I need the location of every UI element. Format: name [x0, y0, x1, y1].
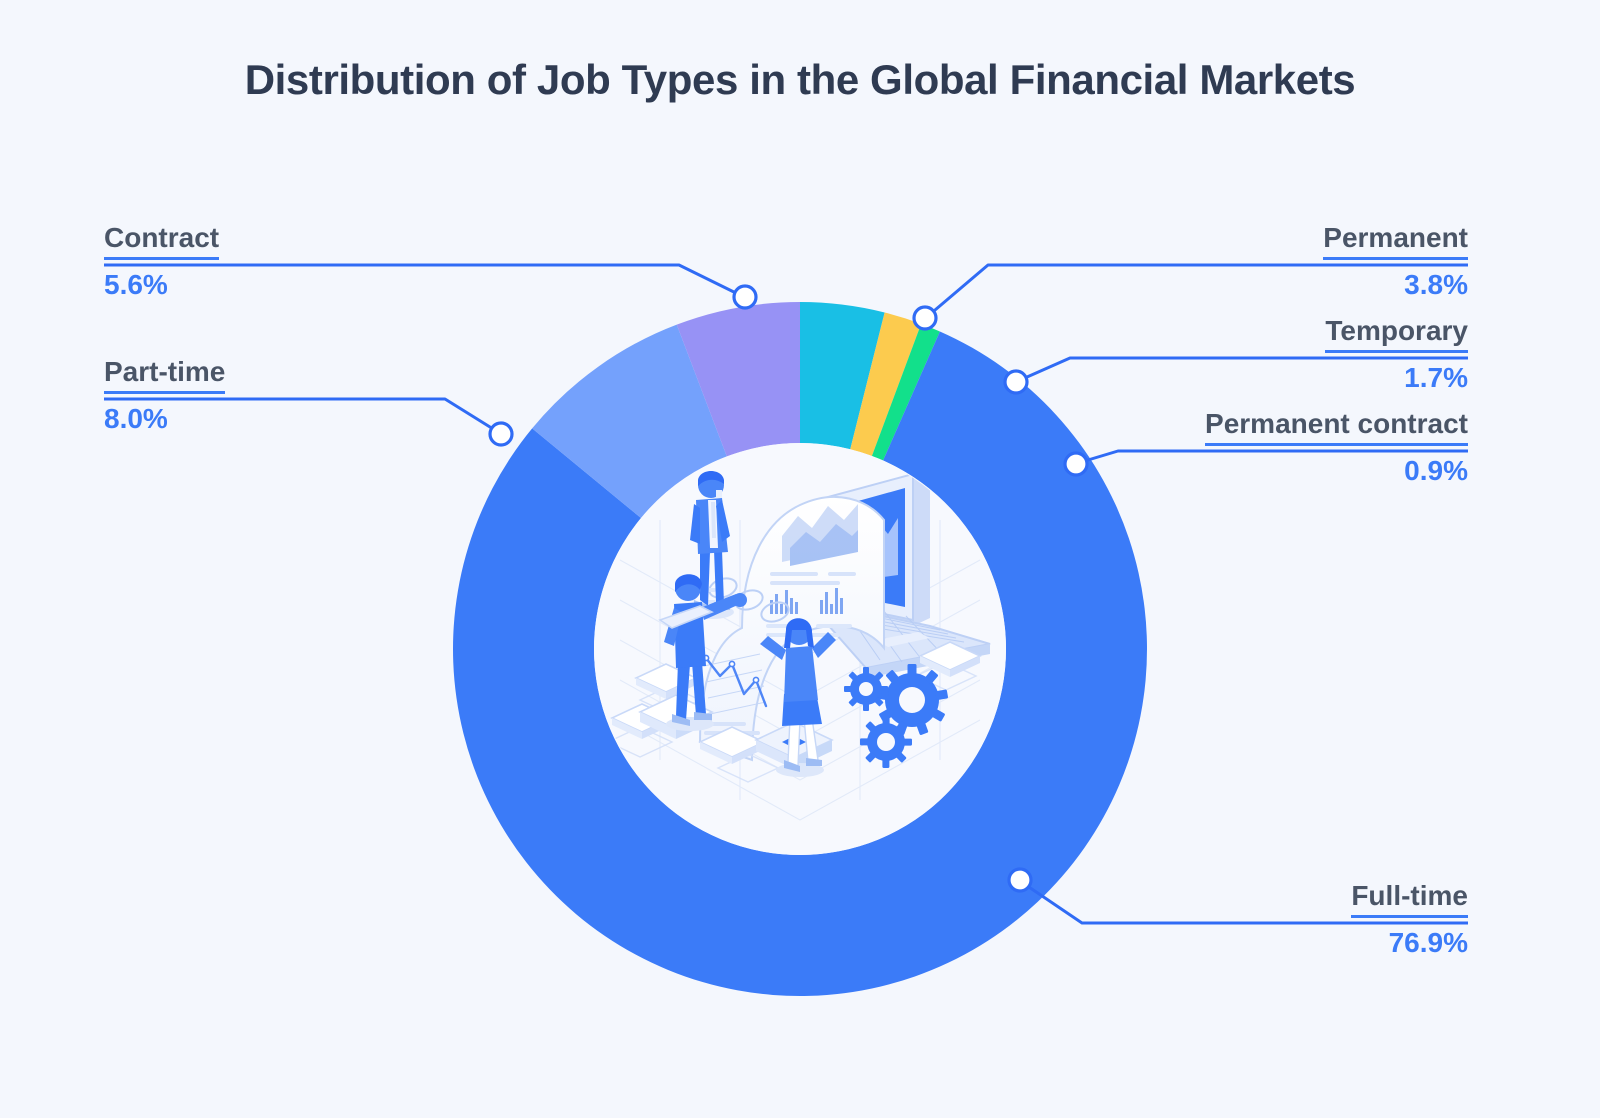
callout-part-time-value: 8.0%	[104, 402, 225, 436]
leader-dot-temporary	[1005, 371, 1027, 393]
callout-underline	[1351, 915, 1468, 918]
callout-permanent-contract-label: Permanent contract	[1205, 407, 1468, 441]
callout-full-time[interactable]: Full-time 76.9%	[1351, 879, 1468, 960]
callout-temporary[interactable]: Temporary 1.7%	[1325, 314, 1468, 395]
callout-permanent-contract[interactable]: Permanent contract 0.9%	[1205, 407, 1468, 488]
callout-contract[interactable]: Contract 5.6%	[104, 221, 219, 302]
callout-underline	[1323, 257, 1468, 260]
callout-permanent-contract-value: 0.9%	[1205, 454, 1468, 488]
callout-part-time-label: Part-time	[104, 355, 225, 389]
callout-temporary-value: 1.7%	[1325, 361, 1468, 395]
leader-dot-permanent-contract	[1065, 453, 1087, 475]
callout-permanent[interactable]: Permanent 3.8%	[1323, 221, 1468, 302]
leader-dot-permanent	[914, 307, 936, 329]
callout-full-time-label: Full-time	[1351, 879, 1468, 913]
callout-underline	[104, 257, 219, 260]
leader-dot-part-time	[490, 423, 512, 445]
chart-canvas: Distribution of Job Types in the Global …	[0, 0, 1600, 1118]
callout-underline	[104, 391, 225, 394]
callout-contract-value: 5.6%	[104, 268, 219, 302]
leader-dot-contract	[734, 286, 756, 308]
callout-part-time[interactable]: Part-time 8.0%	[104, 355, 225, 436]
callout-full-time-value: 76.9%	[1351, 926, 1468, 960]
callout-contract-label: Contract	[104, 221, 219, 255]
gear-small	[844, 667, 888, 711]
callout-permanent-label: Permanent	[1323, 221, 1468, 255]
leader-dot-full-time	[1009, 869, 1031, 891]
callout-permanent-value: 3.8%	[1323, 268, 1468, 302]
gear-medium	[860, 716, 912, 768]
callout-underline	[1205, 443, 1468, 446]
callout-temporary-label: Temporary	[1325, 314, 1468, 348]
callout-underline	[1325, 350, 1468, 353]
